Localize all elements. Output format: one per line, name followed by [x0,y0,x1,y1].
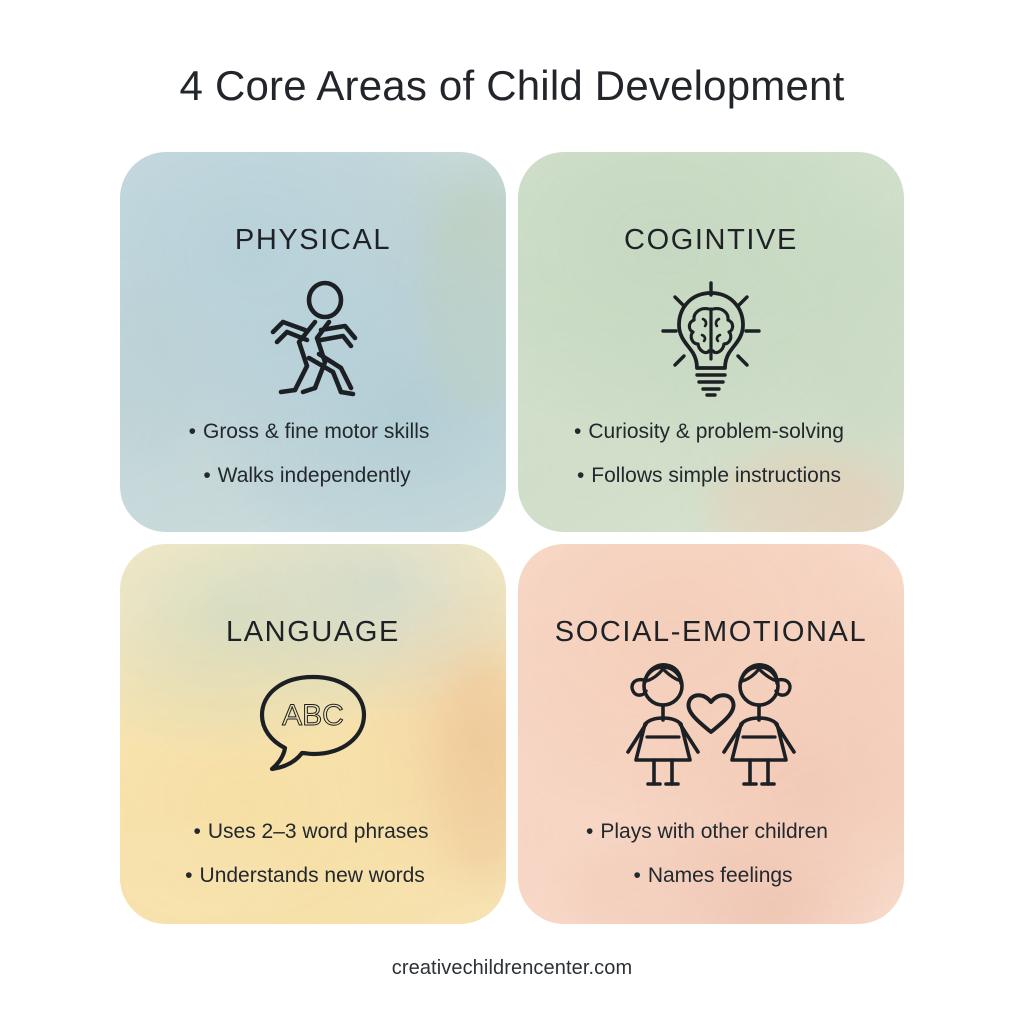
bullet-text: Uses 2–3 word phrases [208,820,429,843]
abc-label: ABC [282,699,344,732]
bullet-marker: • [574,419,581,445]
card-social-emotional-heading: SOCIAL-EMOTIONAL [555,618,867,647]
bullet-text: Follows simple instructions [591,464,841,487]
card-social-emotional-content: SOCIAL-EMOTIONAL [518,544,904,924]
speech-bubble-abc-icon: ABC [254,661,372,785]
bullet-text: Walks independently [218,464,411,487]
list-item: •Uses 2–3 word phrases [142,819,480,845]
list-item: •Curiosity & problem-solving [540,419,878,445]
card-social-emotional-bullets: •Plays with other children •Names feelin… [518,819,904,908]
bullet-text: Understands new words [200,864,425,887]
card-cognitive[interactable]: COGINTIVE [518,152,904,532]
bullet-marker: • [577,463,584,489]
quadrant-grid: PHYSICAL [120,152,904,924]
card-physical-heading: PHYSICAL [235,226,391,255]
list-item: •Walks independently [138,463,476,489]
page-title: 4 Core Areas of Child Development [0,62,1024,110]
bullet-text: Names feelings [648,864,793,887]
two-children-heart-icon [618,657,804,797]
bullet-marker: • [633,863,640,889]
bullet-text: Curiosity & problem-solving [588,420,844,443]
card-language-content: LANGUAGE ABC •Uses 2–3 word phrases •Und… [120,544,506,924]
bullet-marker: • [194,819,201,845]
infographic-poster: 4 Core Areas of Child Development PHYSIC… [0,0,1024,1024]
card-cognitive-bullets: •Curiosity & problem-solving •Follows si… [518,419,904,508]
card-physical-bullets: •Gross & fine motor skills •Walks indepe… [120,419,506,508]
card-language-heading: LANGUAGE [226,618,400,647]
card-cognitive-heading: COGINTIVE [624,226,798,255]
card-social-emotional[interactable]: SOCIAL-EMOTIONAL [518,544,904,924]
card-language[interactable]: LANGUAGE ABC •Uses 2–3 word phrases •Und… [120,544,506,924]
card-physical[interactable]: PHYSICAL [120,152,506,532]
list-item: •Understands new words [136,863,474,889]
running-person-icon [259,277,367,401]
bullet-marker: • [185,863,192,889]
card-cognitive-content: COGINTIVE [518,152,904,532]
bullet-text: Gross & fine motor skills [203,420,429,443]
footer-website: creativechildrencenter.com [0,957,1024,980]
card-language-bullets: •Uses 2–3 word phrases •Understands new … [120,819,506,908]
list-item: •Plays with other children [538,819,876,845]
bullet-marker: • [586,819,593,845]
card-physical-content: PHYSICAL [120,152,506,532]
bullet-text: Plays with other children [600,820,828,843]
list-item: •Names feelings [544,863,882,889]
bullet-marker: • [189,419,196,445]
list-item: •Gross & fine motor skills [140,419,478,445]
list-item: •Follows simple instructions [540,463,878,489]
lightbulb-brain-icon [655,277,767,401]
bullet-marker: • [203,463,210,489]
